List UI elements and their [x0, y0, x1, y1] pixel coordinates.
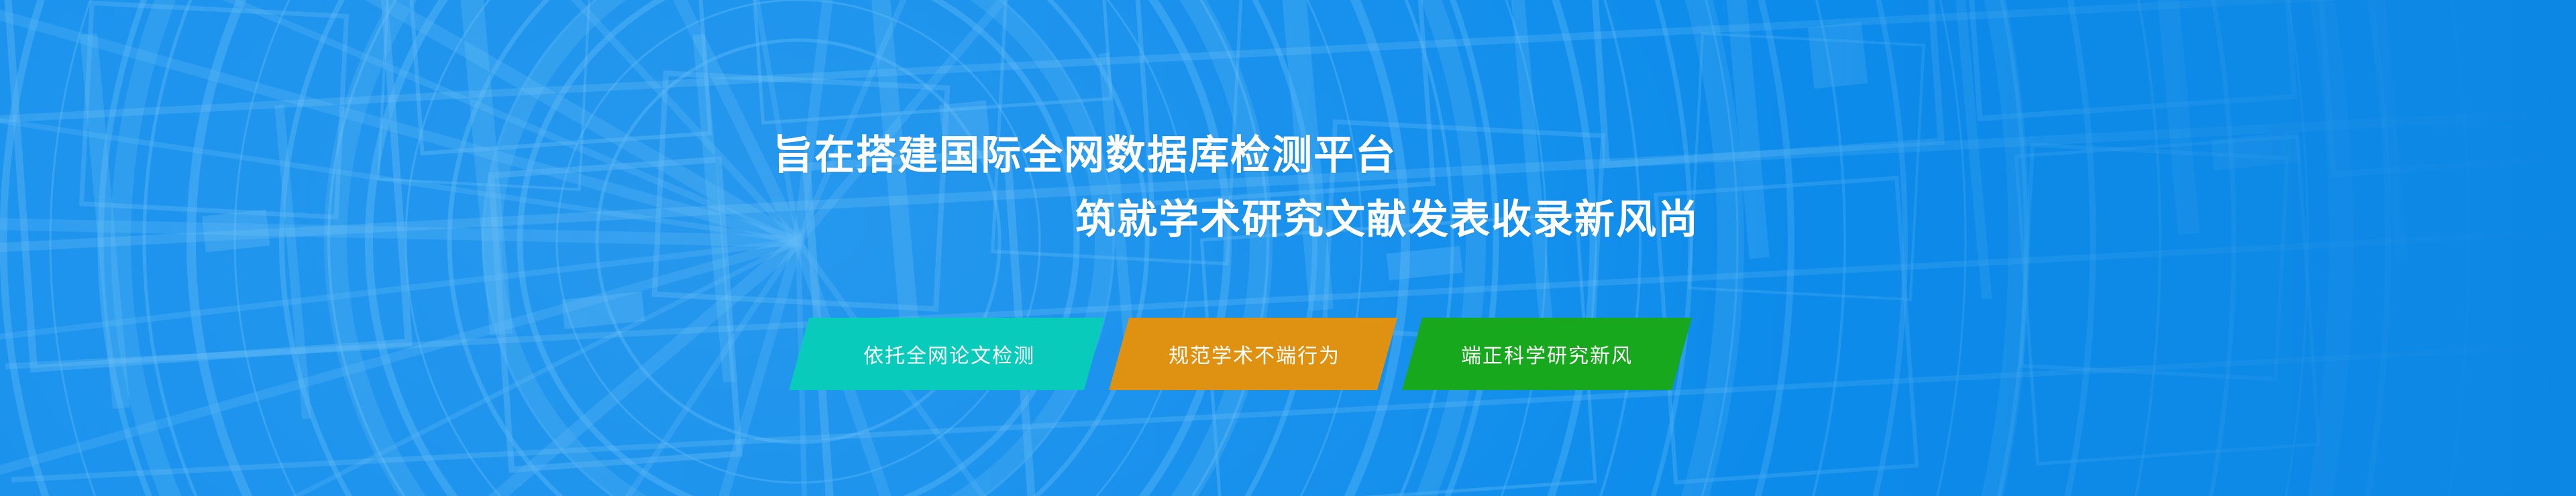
feature-badge-label: 规范学术不端行为 — [1169, 339, 1340, 369]
promo-banner: 旨在搭建国际全网数据库检测平台 筑就学术研究文献发表收录新风尚 依托全网论文检测… — [0, 0, 2576, 496]
background-decoration — [0, 0, 2576, 496]
feature-badge-label: 端正科学研究新风 — [1461, 339, 1633, 369]
headline-line-2: 筑就学术研究文献发表收录新风尚 — [1075, 196, 1699, 244]
background-vignette — [0, 0, 2576, 496]
headline-line-1: 旨在搭建国际全网数据库检测平台 — [773, 131, 1397, 180]
feature-badge-paper-detection[interactable]: 依托全网论文检测 — [789, 318, 1104, 390]
feature-badge-misconduct-regulation[interactable]: 规范学术不端行为 — [1109, 318, 1397, 390]
feature-badge-band: 依托全网论文检测 规范学术不端行为 端正科学研究新风 — [789, 318, 1692, 390]
feature-badge-label: 依托全网论文检测 — [863, 339, 1035, 369]
feature-badge-research-integrity[interactable]: 端正科学研究新风 — [1402, 318, 1692, 390]
